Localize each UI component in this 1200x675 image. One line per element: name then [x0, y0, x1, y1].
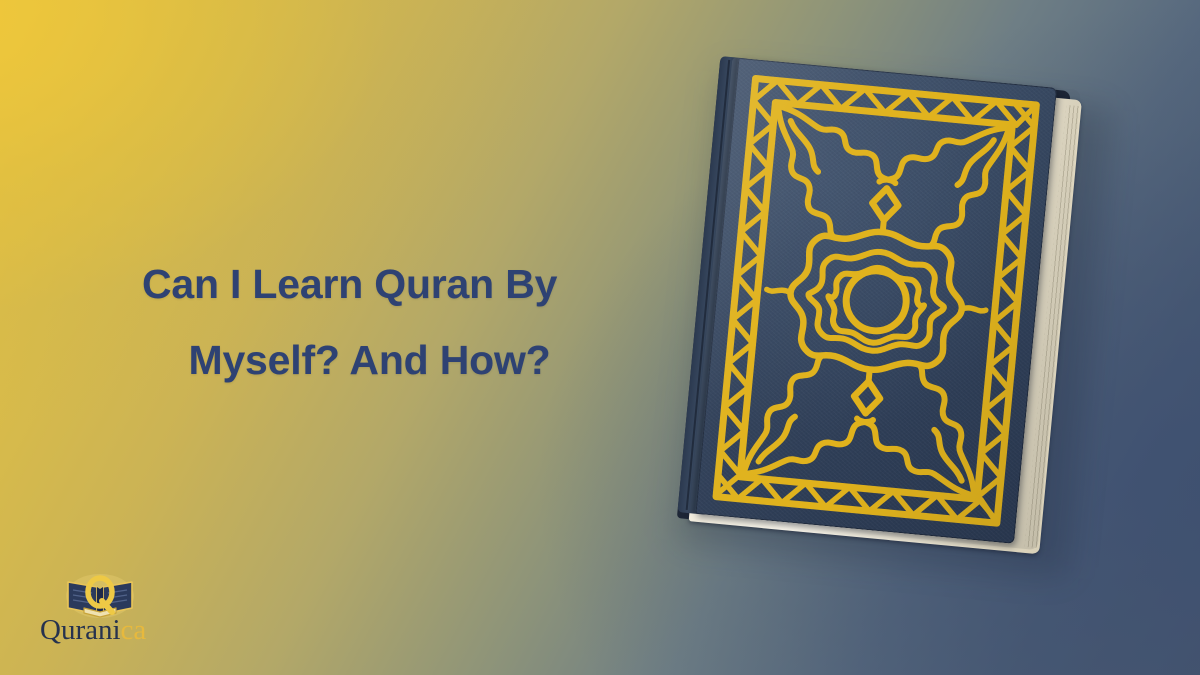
- book-body: [677, 56, 1079, 550]
- logo-wordmark: Quranica: [40, 614, 190, 647]
- page-title-line-2: Myself? And How?: [142, 322, 597, 398]
- book-front-cover: [695, 58, 1057, 544]
- open-book-with-q-icon: [64, 572, 136, 618]
- quranica-logo[interactable]: Quranica: [40, 572, 190, 650]
- page-title: Can I Learn Quran By Myself? And How?: [142, 246, 702, 398]
- hero-banner: Can I Learn Quran By Myself? And How?: [0, 0, 1200, 675]
- quran-book-illustration: [660, 30, 1160, 590]
- logo-word-dark: Qurani: [40, 614, 121, 646]
- logo-word-gold: ca: [121, 614, 147, 646]
- page-title-line-1: Can I Learn Quran By: [142, 246, 702, 322]
- cover-ornament-svg: [695, 58, 1057, 544]
- cover-corner-ornaments: [743, 106, 1009, 496]
